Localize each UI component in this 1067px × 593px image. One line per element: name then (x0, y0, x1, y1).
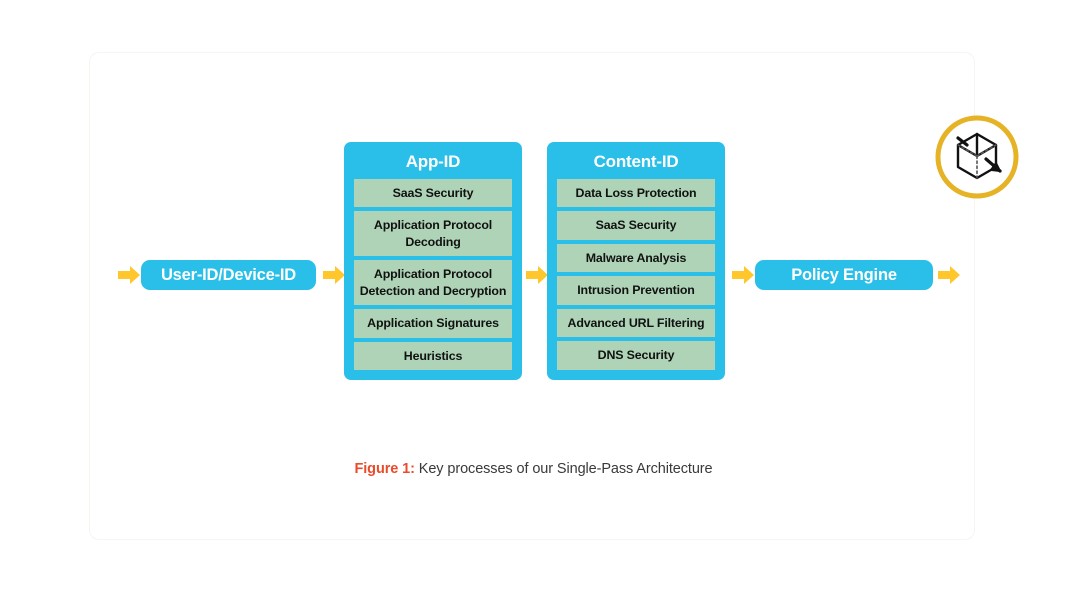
arrow-content-id-to-policy-engine-icon (732, 264, 754, 286)
content-id-item[interactable]: DNS Security (557, 341, 715, 370)
app-id-item[interactable]: Application Signatures (354, 309, 512, 338)
content-id-item[interactable]: Malware Analysis (557, 244, 715, 273)
content-id-item[interactable]: SaaS Security (557, 211, 715, 240)
content-id-item-list: Data Loss Protection SaaS Security Malwa… (557, 179, 715, 370)
figure-caption: Figure 1: Key processes of our Single-Pa… (0, 461, 1067, 477)
arrow-user-id-to-app-id-icon (323, 264, 345, 286)
arrow-into-user-id-icon (118, 264, 140, 286)
arrow-app-id-to-content-id-icon (526, 264, 548, 286)
app-id-item-list: SaaS Security Application Protocol Decod… (354, 179, 512, 371)
content-id-item[interactable]: Intrusion Prevention (557, 276, 715, 305)
app-id-block: App-ID SaaS Security Application Protoco… (344, 142, 522, 380)
app-id-item[interactable]: Application Protocol Decoding (354, 211, 512, 256)
arrow-out-of-policy-engine-icon (938, 264, 960, 286)
policy-engine-pill[interactable]: Policy Engine (755, 260, 933, 290)
app-id-title: App-ID (354, 149, 512, 179)
user-id-device-id-label: User-ID/Device-ID (161, 266, 296, 285)
architecture-flow: User-ID/Device-ID App-ID SaaS Security A… (110, 138, 960, 413)
content-id-block: Content-ID Data Loss Protection SaaS Sec… (547, 142, 725, 380)
cube-arrow-logo (934, 114, 1020, 200)
app-id-item[interactable]: Heuristics (354, 342, 512, 371)
content-id-item[interactable]: Advanced URL Filtering (557, 309, 715, 338)
content-id-title: Content-ID (557, 149, 715, 179)
app-id-item[interactable]: SaaS Security (354, 179, 512, 208)
figure-caption-text: Key processes of our Single-Pass Archite… (415, 461, 713, 477)
user-id-device-id-pill[interactable]: User-ID/Device-ID (141, 260, 316, 290)
policy-engine-label: Policy Engine (791, 266, 897, 285)
app-id-item[interactable]: Application Protocol Detection and Decry… (354, 260, 512, 305)
content-id-item[interactable]: Data Loss Protection (557, 179, 715, 208)
figure-label: Figure 1: (355, 461, 415, 477)
